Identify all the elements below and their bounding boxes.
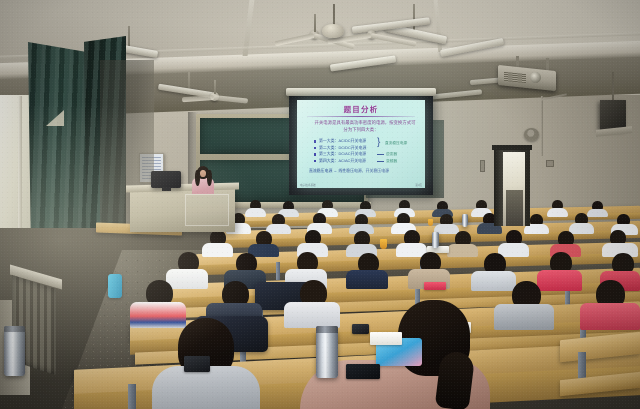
slide-brace-glyph: }	[377, 138, 380, 148]
thermos-bottle	[316, 330, 338, 378]
monitor-stand	[162, 187, 171, 191]
podium-front-panel	[185, 194, 229, 226]
ceiling-fan-rod	[214, 80, 216, 94]
student-torso	[547, 208, 568, 217]
desk-leg	[128, 384, 136, 409]
slide-bullet-item: 第三大类：DC/AC开关电源	[314, 151, 418, 158]
paper-cup	[380, 239, 387, 249]
paper-cup	[428, 219, 433, 226]
eyeglasses-case	[346, 364, 380, 379]
pendant-lamp-cord	[333, 4, 335, 26]
corridor-beyond-door	[506, 190, 523, 226]
podium-monitor[interactable]	[151, 171, 181, 188]
slide-bottom-note: 直流稳压电源 → 线性稳压电源、开关稳压电源	[309, 168, 417, 174]
thermos-bottle	[432, 232, 439, 248]
wall-mounted-speaker	[600, 100, 626, 130]
slide-bullet-item: 第四大类：AC/AC开关电源	[314, 158, 418, 165]
presentation-slide: 题目分析 开关电源是具有最高功率密度的电源，按变换方式可分为下列四大类： 第一大…	[297, 100, 425, 188]
presenter-face	[200, 170, 206, 177]
pendant-lamp-shade	[322, 24, 344, 38]
thermos-bottle	[4, 330, 25, 376]
student-torso	[166, 269, 208, 289]
presenter-hair	[195, 170, 200, 186]
presenter-hair	[207, 170, 212, 186]
slide-footer: 电子技术基础 第3页	[300, 183, 422, 187]
pink-notebook	[424, 282, 446, 290]
student-torso	[447, 244, 478, 257]
classroom-photograph: 题目分析 开关电源是具有最高功率密度的电源，按变换方式可分为下列四大类： 第一大…	[0, 0, 640, 409]
slide-title-rule	[307, 116, 415, 117]
student-torso	[245, 208, 266, 217]
desk-leg	[276, 262, 280, 280]
student-torso	[569, 223, 594, 234]
student-torso	[494, 304, 554, 330]
slide-annotation: 变频器	[386, 159, 397, 164]
student-torso	[537, 270, 582, 291]
slide-annotation: 逆变器	[386, 152, 397, 157]
wall-switch-plate[interactable]	[546, 160, 554, 167]
smartphone[interactable]	[352, 324, 369, 334]
student-torso	[284, 302, 340, 328]
student-torso	[130, 302, 186, 328]
slide-title: 题目分析	[297, 104, 425, 115]
smartphone[interactable]	[184, 356, 210, 372]
ceiling-fan-rod	[314, 14, 316, 32]
thermos-cap	[4, 326, 25, 332]
water-bottle	[108, 274, 122, 298]
electrical-conduit	[541, 96, 543, 156]
slide-leader-line	[377, 161, 384, 162]
tissue-pack	[370, 332, 402, 345]
student-torso	[202, 243, 233, 257]
student-torso	[346, 270, 388, 289]
slide-footer-left: 电子技术基础	[300, 183, 316, 187]
student-torso	[587, 209, 608, 217]
slide-footer-right: 第3页	[415, 183, 422, 187]
student-torso-foreground	[152, 366, 260, 409]
slide-leader-line	[377, 154, 384, 155]
slide-annotation: 直流稳压电源	[385, 141, 407, 146]
projector-lens	[530, 72, 541, 83]
thermos-cap	[316, 326, 338, 333]
student-torso	[471, 271, 516, 291]
speaker-cable	[612, 72, 614, 102]
projection-screen-housing[interactable]	[286, 88, 436, 96]
slide-lead-paragraph: 开关电源是具有最高功率密度的电源，按变换方式可分为下列四大类：	[305, 120, 417, 133]
wall-mounted-fan	[524, 128, 539, 141]
thermos-bottle	[462, 214, 468, 227]
door-leaf[interactable]	[494, 150, 503, 226]
wall-socket-plate[interactable]	[480, 160, 485, 172]
student-torso	[580, 303, 640, 330]
